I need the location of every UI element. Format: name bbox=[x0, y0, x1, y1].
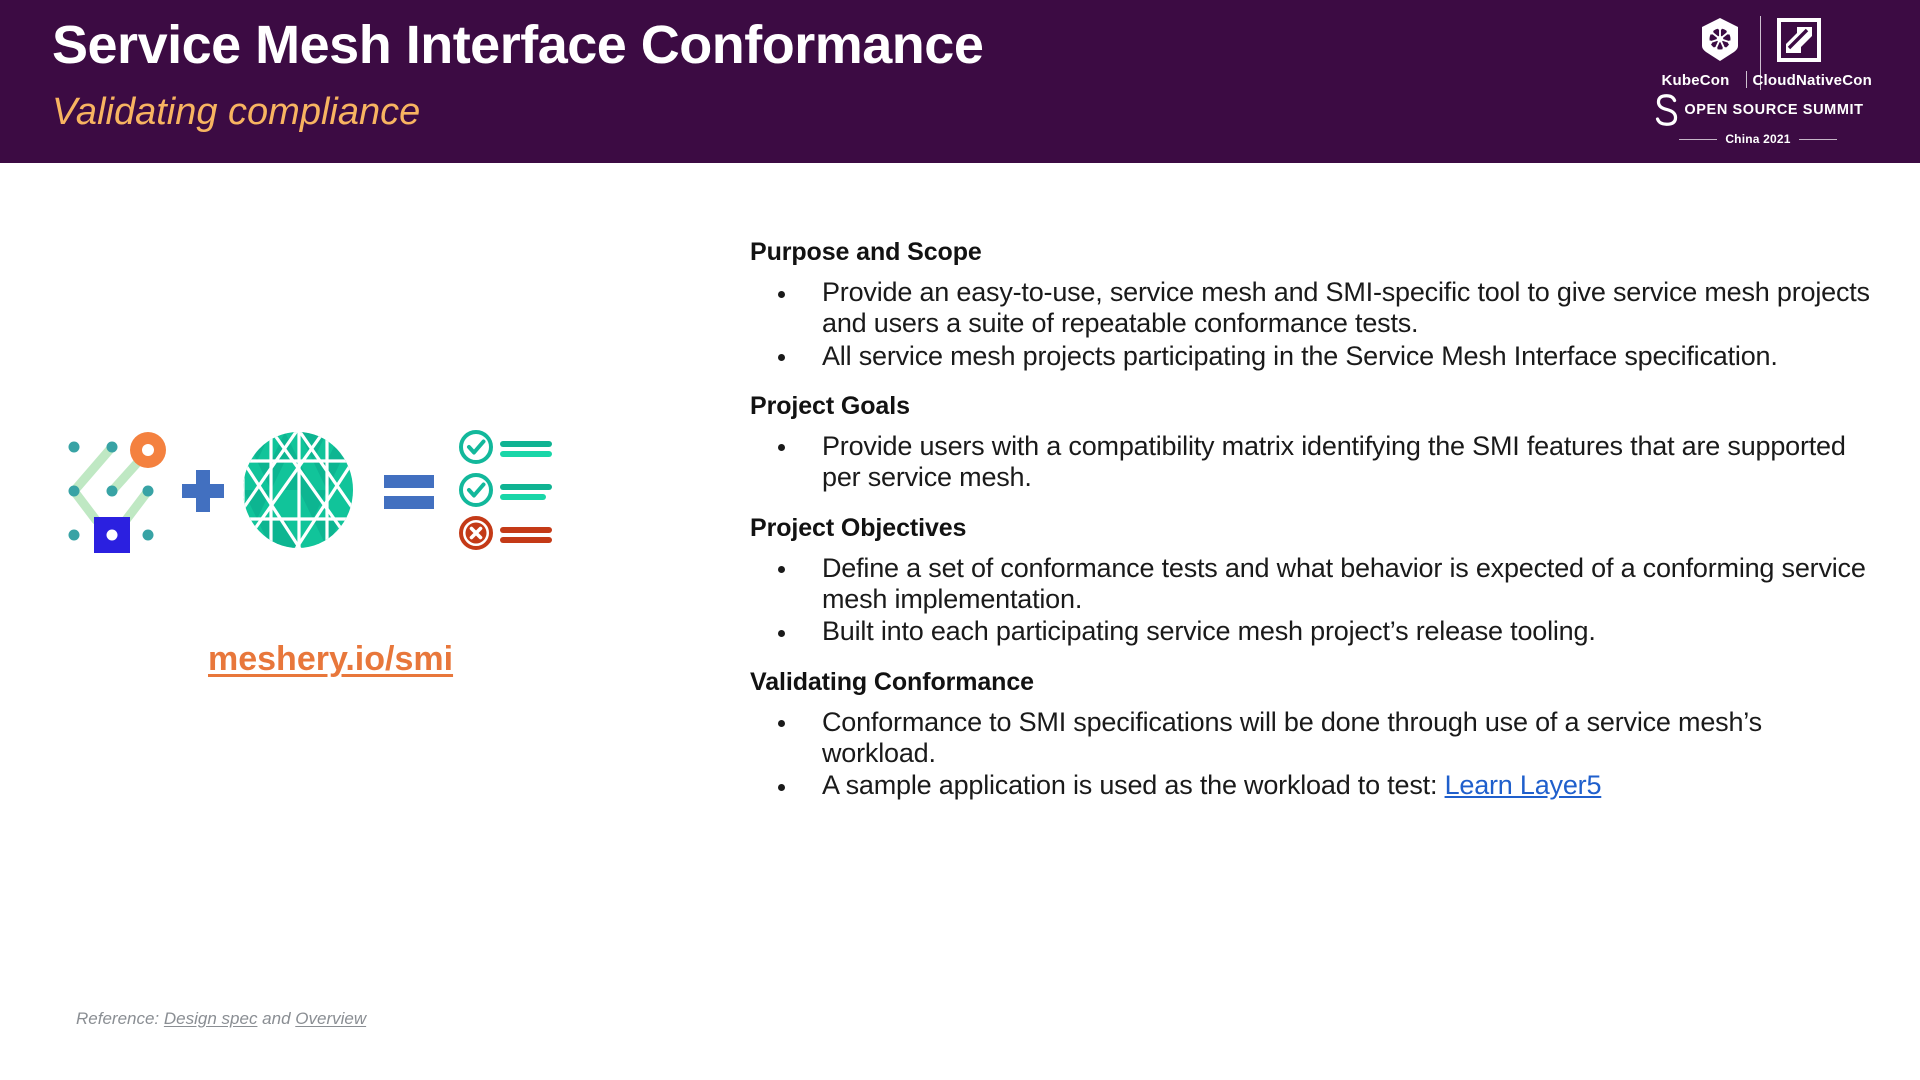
event-year-row: China 2021 bbox=[1644, 132, 1872, 146]
section-heading-project-objectives: Project Objectives bbox=[750, 514, 1880, 543]
section-heading-project-goals: Project Goals bbox=[750, 392, 1880, 421]
kubernetes-helm-icon bbox=[1696, 16, 1744, 64]
bullet-list-project-objectives: Define a set of conformance tests and wh… bbox=[750, 553, 1880, 648]
overview-link[interactable]: Overview bbox=[295, 1009, 366, 1028]
list-item-text: Provide an easy-to-use, service mesh and… bbox=[822, 277, 1870, 338]
list-item: Provide users with a compatibility matri… bbox=[750, 431, 1880, 494]
equals-icon bbox=[358, 430, 444, 550]
event-year-label: China 2021 bbox=[1725, 132, 1790, 146]
list-item-text: Define a set of conformance tests and wh… bbox=[822, 553, 1866, 614]
list-item-text: Provide users with a compatibility matri… bbox=[822, 431, 1846, 492]
logo-marks-row bbox=[1644, 12, 1872, 64]
section-heading-purpose-and-scope: Purpose and Scope bbox=[750, 238, 1880, 267]
reference-footer: Reference: Design spec and Overview bbox=[76, 1009, 366, 1029]
list-item: All service mesh projects participating … bbox=[750, 341, 1880, 372]
reference-prefix: Reference: bbox=[76, 1009, 164, 1028]
bullet-dot-icon bbox=[778, 291, 785, 298]
section-heading-validating-conformance: Validating Conformance bbox=[750, 668, 1880, 697]
slide: Service Mesh Interface Conformance Valid… bbox=[0, 0, 1920, 1080]
logo-names-row: KubeCon CloudNativeCon bbox=[1644, 68, 1872, 89]
cncf-square-icon bbox=[1777, 18, 1821, 64]
logo-name-divider bbox=[1746, 71, 1747, 88]
page-title: Service Mesh Interface Conformance bbox=[52, 16, 983, 75]
linux-foundation-s-icon bbox=[1652, 92, 1684, 128]
slide-header: Service Mesh Interface Conformance Valid… bbox=[0, 0, 1920, 163]
list-item: Built into each participating service me… bbox=[750, 616, 1880, 647]
cloudnativecon-label: CloudNativeCon bbox=[1753, 72, 1865, 89]
bullet-dot-icon bbox=[778, 444, 785, 451]
conformance-checklist-icon bbox=[444, 425, 564, 555]
content-panel: Purpose and Scope Provide an easy-to-use… bbox=[750, 238, 1880, 802]
year-rule-right bbox=[1799, 139, 1837, 140]
design-spec-link[interactable]: Design spec bbox=[164, 1009, 258, 1028]
list-item: Conformance to SMI specifications will b… bbox=[750, 707, 1880, 770]
list-item-text: Built into each participating service me… bbox=[822, 616, 1596, 646]
list-item-text: All service mesh projects participating … bbox=[822, 341, 1778, 371]
page-subtitle: Validating compliance bbox=[52, 92, 420, 134]
smi-nodes-icon bbox=[52, 425, 172, 555]
reference-middle: and bbox=[257, 1009, 295, 1028]
summit-label: OPEN SOURCE SUMMIT bbox=[1684, 102, 1863, 118]
bullet-dot-icon bbox=[778, 784, 785, 791]
meshery-sphere-icon bbox=[234, 425, 358, 555]
list-item-text: Conformance to SMI specifications will b… bbox=[822, 707, 1762, 768]
list-item: Provide an easy-to-use, service mesh and… bbox=[750, 277, 1880, 340]
bullet-list-project-goals: Provide users with a compatibility matri… bbox=[750, 431, 1880, 494]
learn-layer5-link[interactable]: Learn Layer5 bbox=[1445, 770, 1602, 800]
bullet-dot-icon bbox=[778, 720, 785, 727]
list-item: Define a set of conformance tests and wh… bbox=[750, 553, 1880, 616]
bullet-list-purpose-and-scope: Provide an easy-to-use, service mesh and… bbox=[750, 277, 1880, 372]
bullet-dot-icon bbox=[778, 354, 785, 361]
list-item-text: A sample application is used as the work… bbox=[822, 770, 1445, 800]
event-logo: KubeCon CloudNativeCon OPEN SOURCE SUMMI… bbox=[1644, 12, 1872, 152]
plus-icon bbox=[172, 430, 234, 550]
bullet-list-validating-conformance: Conformance to SMI specifications will b… bbox=[750, 707, 1880, 802]
kubecon-label: KubeCon bbox=[1652, 72, 1740, 89]
list-item: A sample application is used as the work… bbox=[750, 770, 1880, 801]
conformance-illustration bbox=[52, 400, 652, 580]
meshery-smi-link[interactable]: meshery.io/smi bbox=[208, 640, 453, 679]
bullet-dot-icon bbox=[778, 566, 785, 573]
bullet-dot-icon bbox=[778, 630, 785, 637]
year-rule-left bbox=[1679, 139, 1717, 140]
open-source-summit-row: OPEN SOURCE SUMMIT bbox=[1644, 92, 1872, 128]
